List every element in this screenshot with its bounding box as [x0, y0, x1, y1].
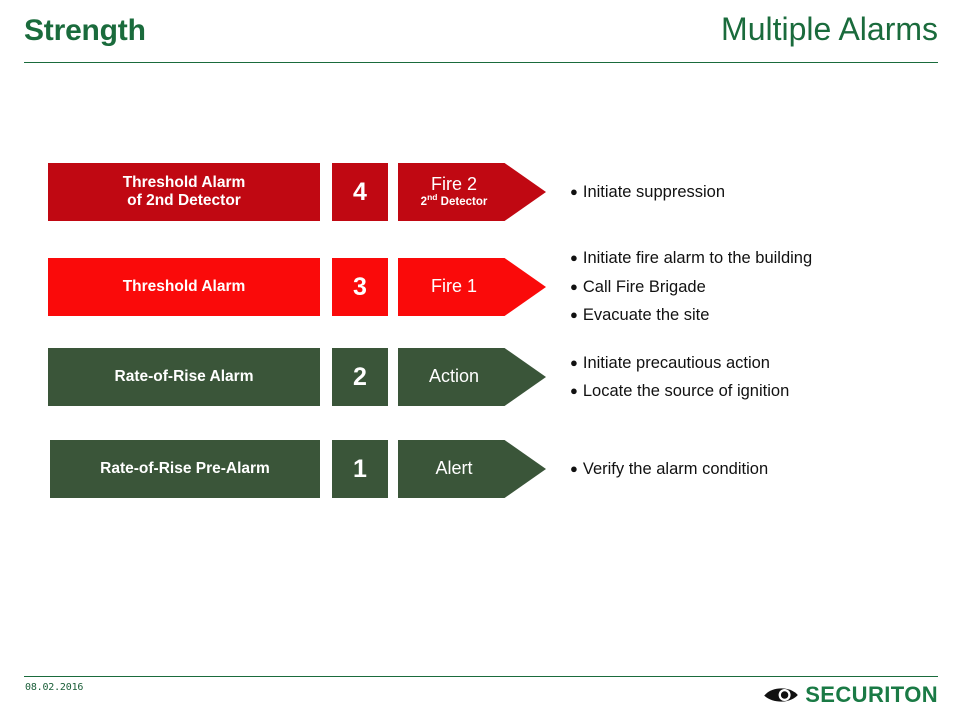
alarm-stage-number-1: 1	[332, 440, 388, 498]
footer-date: 08.02.2016	[25, 682, 83, 693]
bullet-icon: ●	[570, 181, 578, 203]
bullet-icon: ●	[570, 458, 578, 480]
alarm-arrow-4-title: Fire 2	[431, 175, 477, 195]
bullet-icon: ●	[570, 304, 578, 326]
alarm-row-2: Rate-of-Rise Alarm 2 Action ●Initiate pr…	[0, 348, 960, 406]
action-text: Initiate suppression	[583, 183, 725, 201]
alarm-row-3: Threshold Alarm 3 Fire 1 ●Initiate fire …	[0, 258, 960, 316]
alarm-actions-1: ●Verify the alarm condition	[570, 440, 950, 498]
action-item: ●Verify the alarm condition	[570, 455, 950, 483]
alarm-label-3: Threshold Alarm	[48, 258, 320, 316]
alarm-stage-number-2: 2	[332, 348, 388, 406]
alarm-label-4-line-2: of 2nd Detector	[123, 192, 246, 210]
alarm-arrow-4-sub-rest: Detector	[437, 196, 487, 208]
action-text: Locate the source of ignition	[583, 382, 789, 400]
alarm-label-4: Threshold Alarm of 2nd Detector	[48, 163, 320, 221]
alarm-label-3-line-1: Threshold Alarm	[123, 278, 246, 296]
alarm-row-1: Rate-of-Rise Pre-Alarm 1 Alert ●Verify t…	[0, 440, 960, 498]
action-item: ●Locate the source of ignition	[570, 377, 950, 405]
action-item: ●Initiate suppression	[570, 178, 950, 206]
action-item: ●Initiate fire alarm to the building	[570, 244, 950, 272]
alarm-arrow-3-title: Fire 1	[431, 277, 477, 297]
alarm-actions-2: ●Initiate precautious action ●Locate the…	[570, 348, 950, 406]
alarm-stage-number-4: 4	[332, 163, 388, 221]
alarm-label-4-line-1: Threshold Alarm	[123, 174, 246, 192]
bullet-icon: ●	[570, 276, 578, 298]
alarm-arrow-1-title: Alert	[435, 459, 472, 479]
logo-wordmark: SECURITON	[805, 682, 938, 708]
action-text: Initiate fire alarm to the building	[583, 249, 812, 267]
alarm-label-1-line-1: Rate-of-Rise Pre-Alarm	[100, 460, 270, 478]
alarm-arrow-2: Action	[398, 348, 546, 406]
alarm-stage-number-3: 3	[332, 258, 388, 316]
action-text: Evacuate the site	[583, 306, 710, 324]
alarm-arrow-1: Alert	[398, 440, 546, 498]
alarm-label-2: Rate-of-Rise Alarm	[48, 348, 320, 406]
eye-icon	[763, 685, 799, 705]
alarm-label-2-line-1: Rate-of-Rise Alarm	[115, 368, 254, 386]
securiton-logo: SECURITON	[763, 681, 938, 709]
alarm-arrow-4: Fire 2 2nd Detector	[398, 163, 546, 221]
alarm-arrow-4-sub-sup: nd	[427, 192, 437, 202]
alarm-arrow-3: Fire 1	[398, 258, 546, 316]
alarm-actions-3: ●Initiate fire alarm to the building ●Ca…	[570, 254, 950, 320]
bullet-icon: ●	[570, 380, 578, 402]
bullet-icon: ●	[570, 247, 578, 269]
action-text: Call Fire Brigade	[583, 278, 706, 296]
alarm-arrow-4-subtitle: 2nd Detector	[421, 196, 488, 210]
bullet-icon: ●	[570, 352, 578, 374]
action-text: Initiate precautious action	[583, 354, 770, 372]
alarm-actions-4: ●Initiate suppression	[570, 163, 950, 221]
action-text: Verify the alarm condition	[583, 460, 768, 478]
alarm-label-1: Rate-of-Rise Pre-Alarm	[50, 440, 320, 498]
footer-divider	[24, 676, 938, 677]
alarm-arrow-2-title: Action	[429, 367, 479, 387]
alarm-row-4: Threshold Alarm of 2nd Detector 4 Fire 2…	[0, 163, 960, 221]
action-item: ●Call Fire Brigade	[570, 273, 950, 301]
alarm-escalation-diagram: Threshold Alarm of 2nd Detector 4 Fire 2…	[0, 0, 960, 720]
action-item: ●Evacuate the site	[570, 301, 950, 329]
action-item: ●Initiate precautious action	[570, 349, 950, 377]
